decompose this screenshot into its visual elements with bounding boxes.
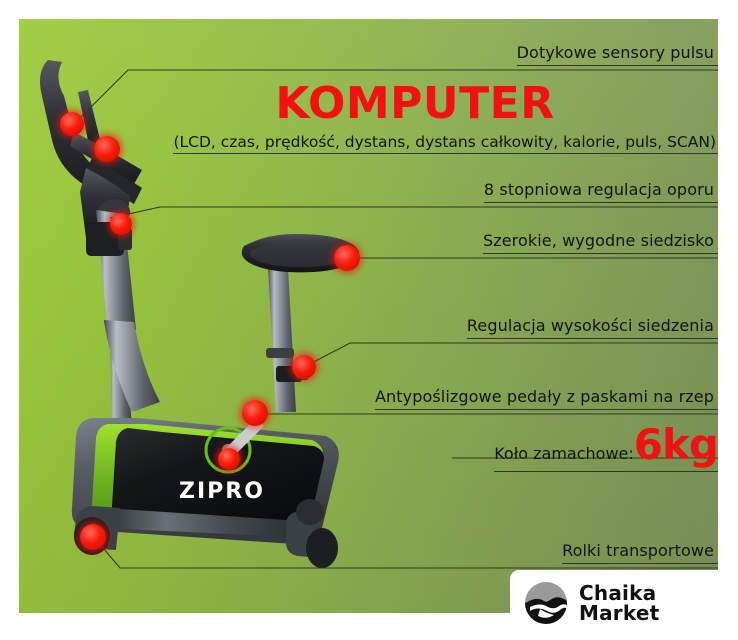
svg-text:ZIPRO: ZIPRO bbox=[179, 479, 265, 504]
callout-label-pedals: Antypoślizgowe pedały z paskami na rzep bbox=[375, 388, 718, 406]
marker-pulse-sensor-right bbox=[94, 136, 120, 162]
callout-pulse-sensors: Dotykowe sensory pulsu bbox=[517, 44, 718, 66]
callout-label-seat-height: Regulacja wysokości siedzenia bbox=[467, 317, 718, 335]
marker-transport-roller bbox=[80, 524, 106, 550]
callout-rule-seat-height bbox=[467, 338, 718, 339]
flywheel-label: Koło zamachowe: bbox=[494, 444, 634, 463]
headline-komputer: KOMPUTER bbox=[110, 82, 720, 126]
callout-seat-height: Regulacja wysokości siedzenia bbox=[467, 317, 718, 339]
headline-functions-label: (LCD, czas, prędkość, dystans, dystans c… bbox=[173, 133, 718, 151]
callout-transport-rollers: Rolki transportowe bbox=[562, 542, 718, 564]
chaika-market-logo[interactable]: Chaika Market bbox=[510, 570, 718, 636]
callout-label-pulse-sensors: Dotykowe sensory pulsu bbox=[517, 44, 718, 62]
marker-pedal bbox=[242, 400, 268, 426]
marker-resistance-knob bbox=[110, 213, 132, 235]
logo-line-2: Market bbox=[579, 603, 659, 623]
headline-functions: (LCD, czas, prędkość, dystans, dystans c… bbox=[173, 133, 718, 154]
flywheel-value: 6kg bbox=[634, 420, 718, 469]
callout-resistance: 8 stopniowa regulacja oporu bbox=[484, 181, 718, 203]
callout-label-transport-rollers: Rolki transportowe bbox=[562, 542, 718, 560]
callout-label-resistance: 8 stopniowa regulacja oporu bbox=[484, 181, 718, 199]
callout-rule-pulse-sensors bbox=[517, 65, 718, 66]
callout-label-seat: Szerokie, wygodne siedzisko bbox=[483, 232, 718, 250]
seagull-circle-icon bbox=[524, 581, 568, 625]
marker-seat-height bbox=[292, 355, 316, 379]
marker-pulse-sensor-left bbox=[60, 112, 84, 136]
callout-seat: Szerokie, wygodne siedzisko bbox=[483, 232, 718, 254]
marker-seat bbox=[334, 245, 360, 271]
callout-rule-flywheel bbox=[494, 471, 718, 472]
headline-functions-rule bbox=[173, 153, 718, 154]
callout-rule-transport-rollers bbox=[562, 563, 718, 564]
logo-line-1: Chaika bbox=[579, 583, 659, 603]
infographic-canvas: ZIPRO Dotykowe sensory pulsu bbox=[0, 0, 738, 640]
callout-rule-pedals bbox=[375, 409, 718, 410]
callout-pedals: Antypoślizgowe pedały z paskami na rzep bbox=[375, 388, 718, 410]
headline-title: KOMPUTER bbox=[110, 82, 720, 126]
logo-wordmark: Chaika Market bbox=[579, 583, 659, 624]
callout-rule-resistance bbox=[484, 202, 718, 203]
callout-rule-seat bbox=[483, 253, 718, 254]
callout-flywheel: Koło zamachowe:6kg bbox=[494, 420, 718, 472]
marker-flywheel bbox=[218, 448, 240, 470]
